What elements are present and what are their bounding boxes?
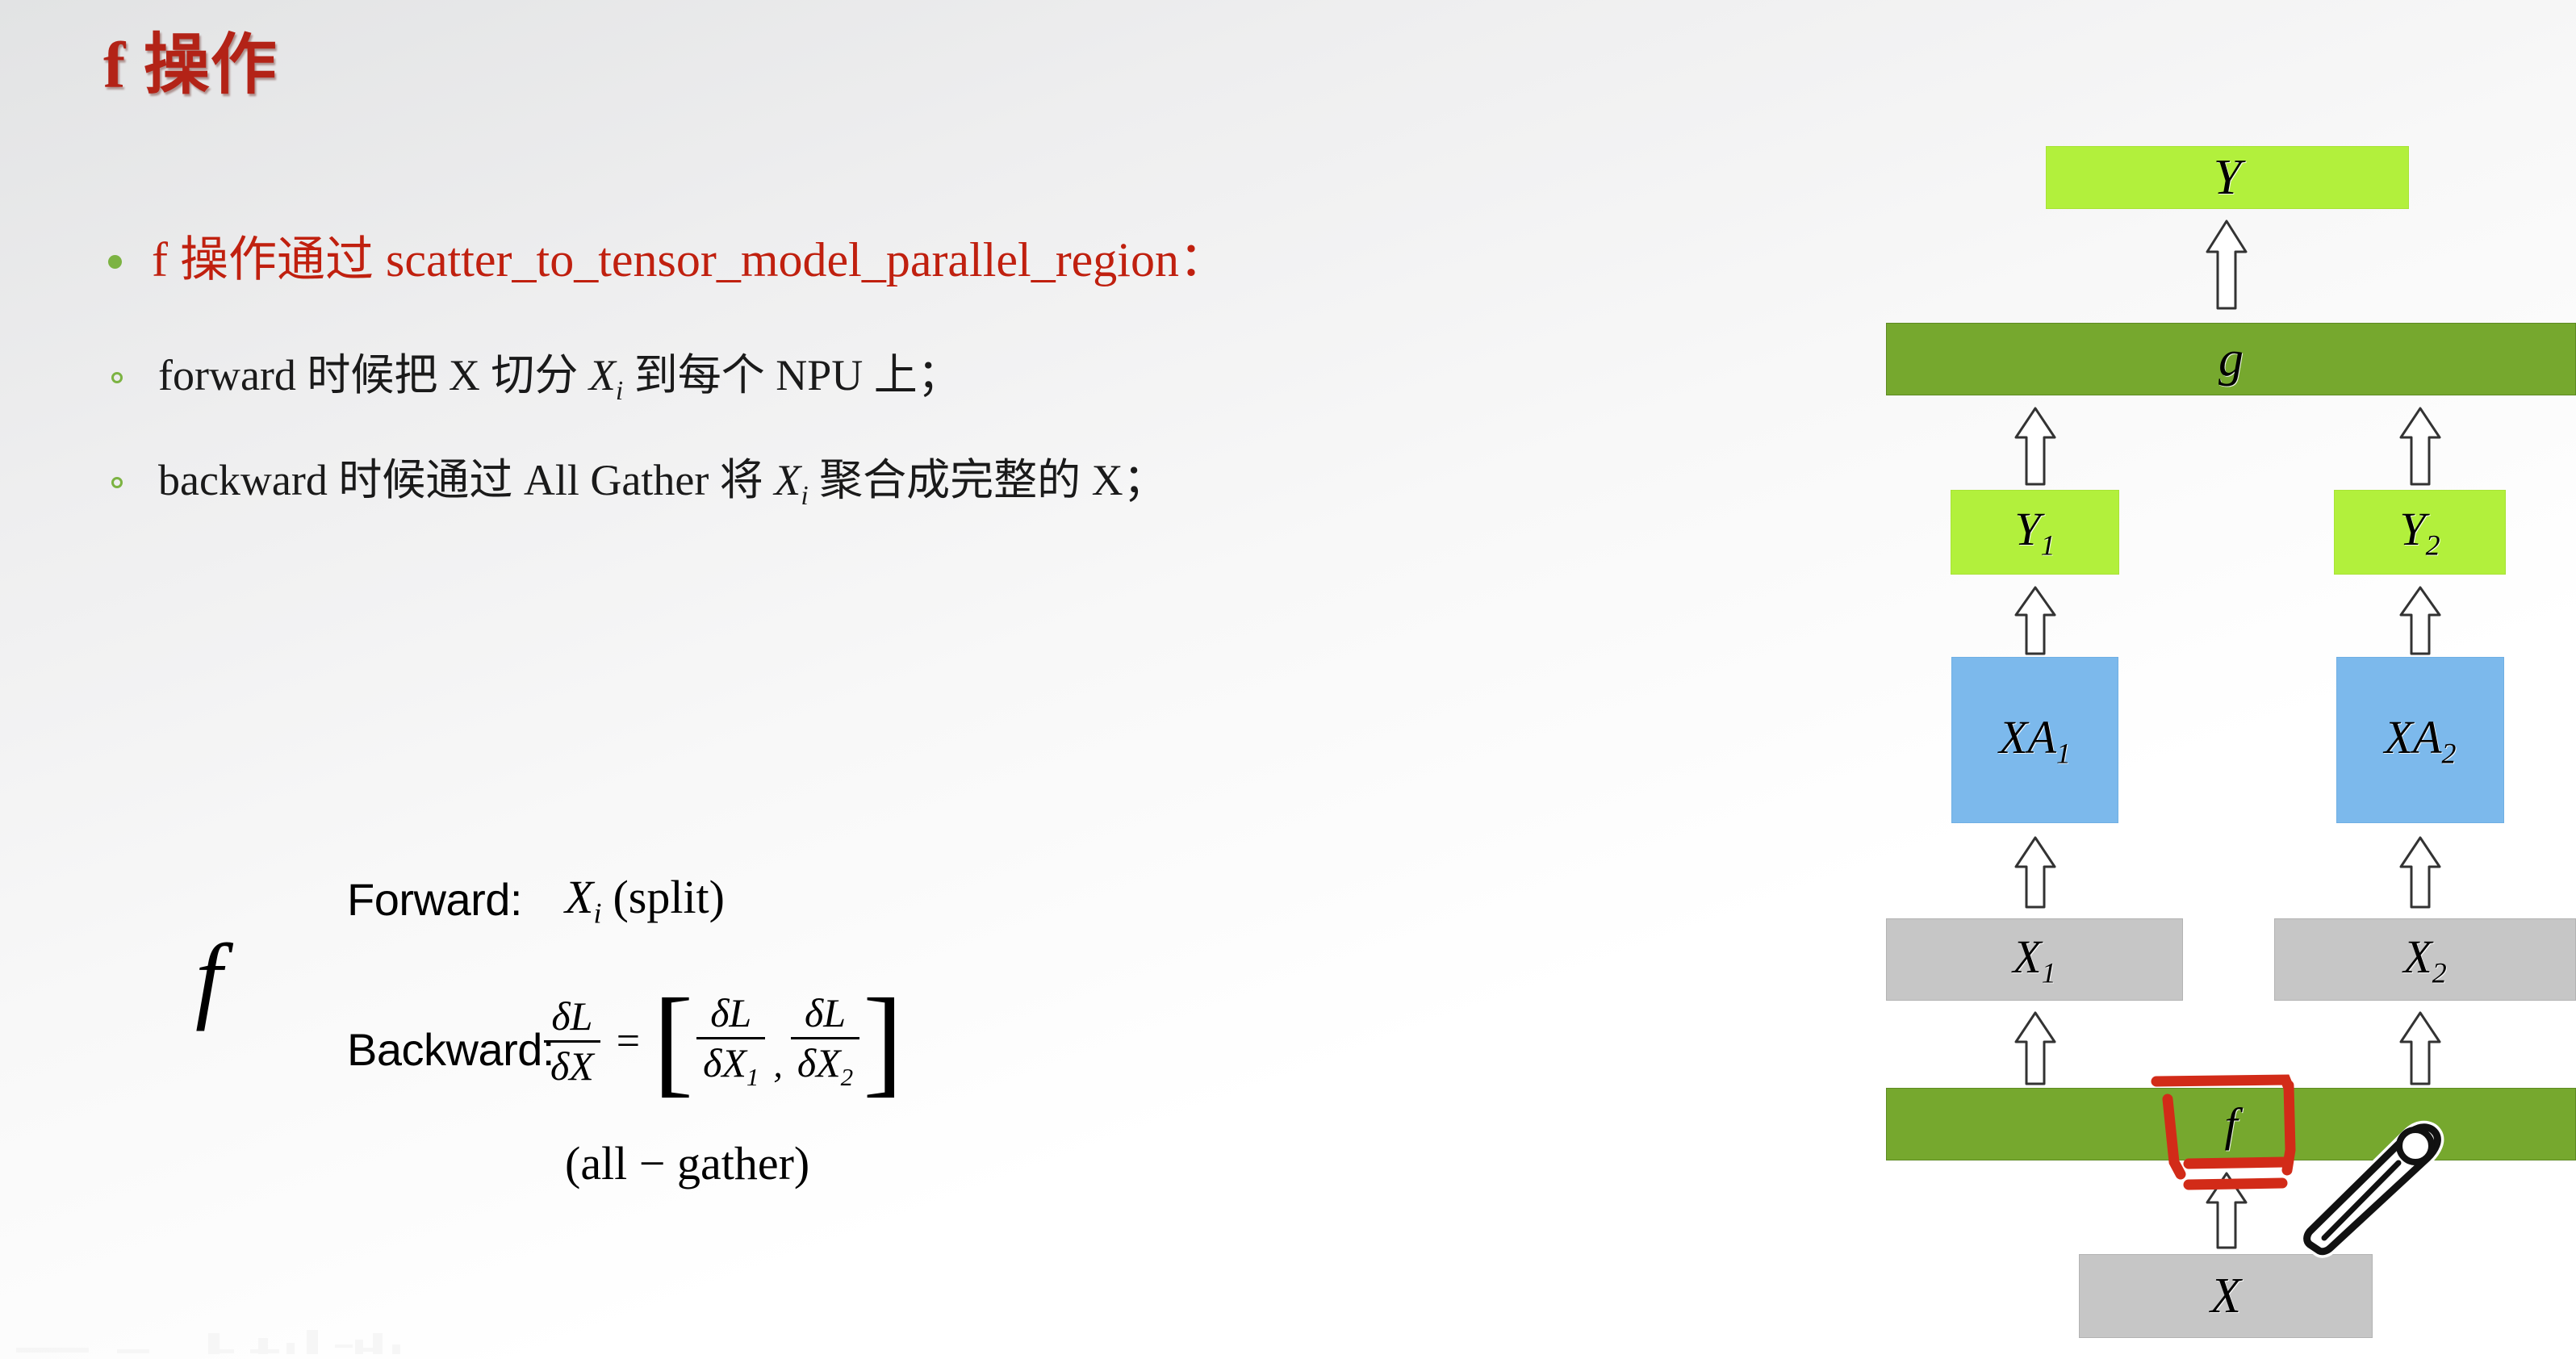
diagram-node-Y1-label: Y1 [2014,502,2055,562]
tensor-parallel-diagram: Y g Y1 Y2 [0,0,2576,1359]
diagram-node-X1: X1 [1886,918,2183,1001]
slide-canvas: f 操作 f 操作通过 scatter_to_tensor_model_para… [0,0,2576,1359]
diagram-node-g: g [1886,323,2576,395]
diagram-node-XA2-label: XA2 [2385,710,2457,771]
diagram-node-XA1: XA1 [1951,657,2118,823]
diagram-node-Y1: Y1 [1951,490,2119,575]
diagram-node-f: f [1886,1088,2576,1160]
watermark-logo [8,1303,460,1359]
diagram-node-f-label: f [2224,1098,2237,1152]
diagram-node-XA2: XA2 [2336,657,2504,823]
diagram-node-Y-label: Y [2214,149,2241,207]
diagram-node-X-label: X [2210,1268,2241,1325]
diagram-node-Y2-label: Y2 [2399,502,2440,562]
diagram-node-Y2: Y2 [2334,490,2506,575]
diagram-node-XA1-label: XA1 [1999,710,2071,771]
diagram-node-X: X [2079,1254,2373,1338]
diagram-node-g-label: g [2218,331,2244,388]
diagram-node-Y: Y [2046,146,2409,209]
diagram-node-X2-label: X2 [2403,930,2446,990]
diagram-node-X1-label: X1 [2013,930,2055,990]
diagram-node-X2: X2 [2274,918,2576,1001]
